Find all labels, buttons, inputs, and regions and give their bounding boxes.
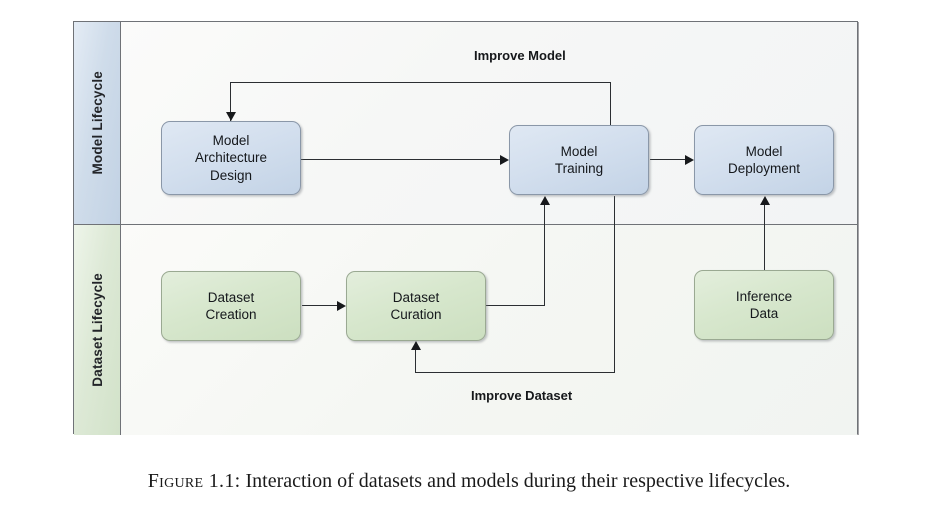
edge-label-improve-model: Improve Model: [474, 48, 566, 63]
node-model-architecture-design[interactable]: Model Architecture Design: [161, 121, 301, 195]
edge-label-improve-dataset: Improve Dataset: [471, 388, 572, 403]
node-label-line: Model: [213, 133, 250, 148]
node-label-line: Training: [555, 161, 603, 176]
edge-design-to-training-line: [300, 159, 500, 160]
edge-improve-dataset-riser: [415, 350, 416, 373]
node-label-line: Dataset: [208, 290, 255, 305]
node-label-line: Model: [746, 144, 783, 159]
edge-curation-to-training-arrowhead: [540, 196, 550, 205]
node-model-training[interactable]: Model Training: [509, 125, 649, 195]
edge-creation-to-curation-arrowhead: [337, 301, 346, 311]
node-model-deployment[interactable]: Model Deployment: [694, 125, 834, 195]
figure-root: Model Lifecycle Dataset Lifecycle Improv…: [0, 0, 938, 524]
edge-design-to-training-arrowhead: [500, 155, 509, 165]
lane-header-dataset-lifecycle: Dataset Lifecycle: [74, 225, 121, 435]
swimlane-diagram: Model Lifecycle Dataset Lifecycle Improv…: [73, 21, 858, 434]
node-label-line: Curation: [390, 307, 441, 322]
node-label-line: Inference: [736, 289, 792, 304]
node-dataset-creation[interactable]: Dataset Creation: [161, 271, 301, 341]
node-dataset-curation[interactable]: Dataset Curation: [346, 271, 486, 341]
node-label-line: Creation: [205, 307, 256, 322]
node-label-line: Architecture: [195, 150, 267, 165]
edge-improve-dataset-bottom: [415, 372, 615, 373]
node-label-line: Data: [750, 306, 779, 321]
lane-header-model-lifecycle: Model Lifecycle: [74, 22, 121, 224]
edge-inference-to-deployment-arrowhead: [760, 196, 770, 205]
edge-improve-dataset-arrowhead: [411, 341, 421, 350]
lane-label-dataset-lifecycle: Dataset Lifecycle: [90, 273, 105, 387]
edge-training-to-deployment-line: [650, 159, 686, 160]
edge-training-to-deployment-arrowhead: [685, 155, 694, 165]
lane-label-model-lifecycle: Model Lifecycle: [90, 71, 105, 175]
edge-creation-to-curation-line: [302, 305, 338, 306]
edge-curation-to-training-v: [544, 205, 545, 306]
edge-improve-dataset-drop: [614, 196, 615, 373]
edge-improve-model-top: [230, 82, 611, 83]
node-label-line: Model: [561, 144, 598, 159]
node-inference-data[interactable]: Inference Data: [694, 270, 834, 340]
figure-caption: Figure 1.1: Interaction of datasets and …: [0, 470, 938, 493]
edge-inference-to-deployment-line: [764, 205, 765, 271]
figure-caption-prefix: Figure 1.1:: [148, 470, 241, 492]
node-label-line: Dataset: [393, 290, 440, 305]
node-label-line: Deployment: [728, 161, 800, 176]
edge-improve-model-arrowhead: [226, 112, 236, 121]
figure-caption-text: Interaction of datasets and models durin…: [245, 470, 790, 492]
edge-curation-to-training-h: [486, 305, 545, 306]
node-label-line: Design: [210, 168, 252, 183]
